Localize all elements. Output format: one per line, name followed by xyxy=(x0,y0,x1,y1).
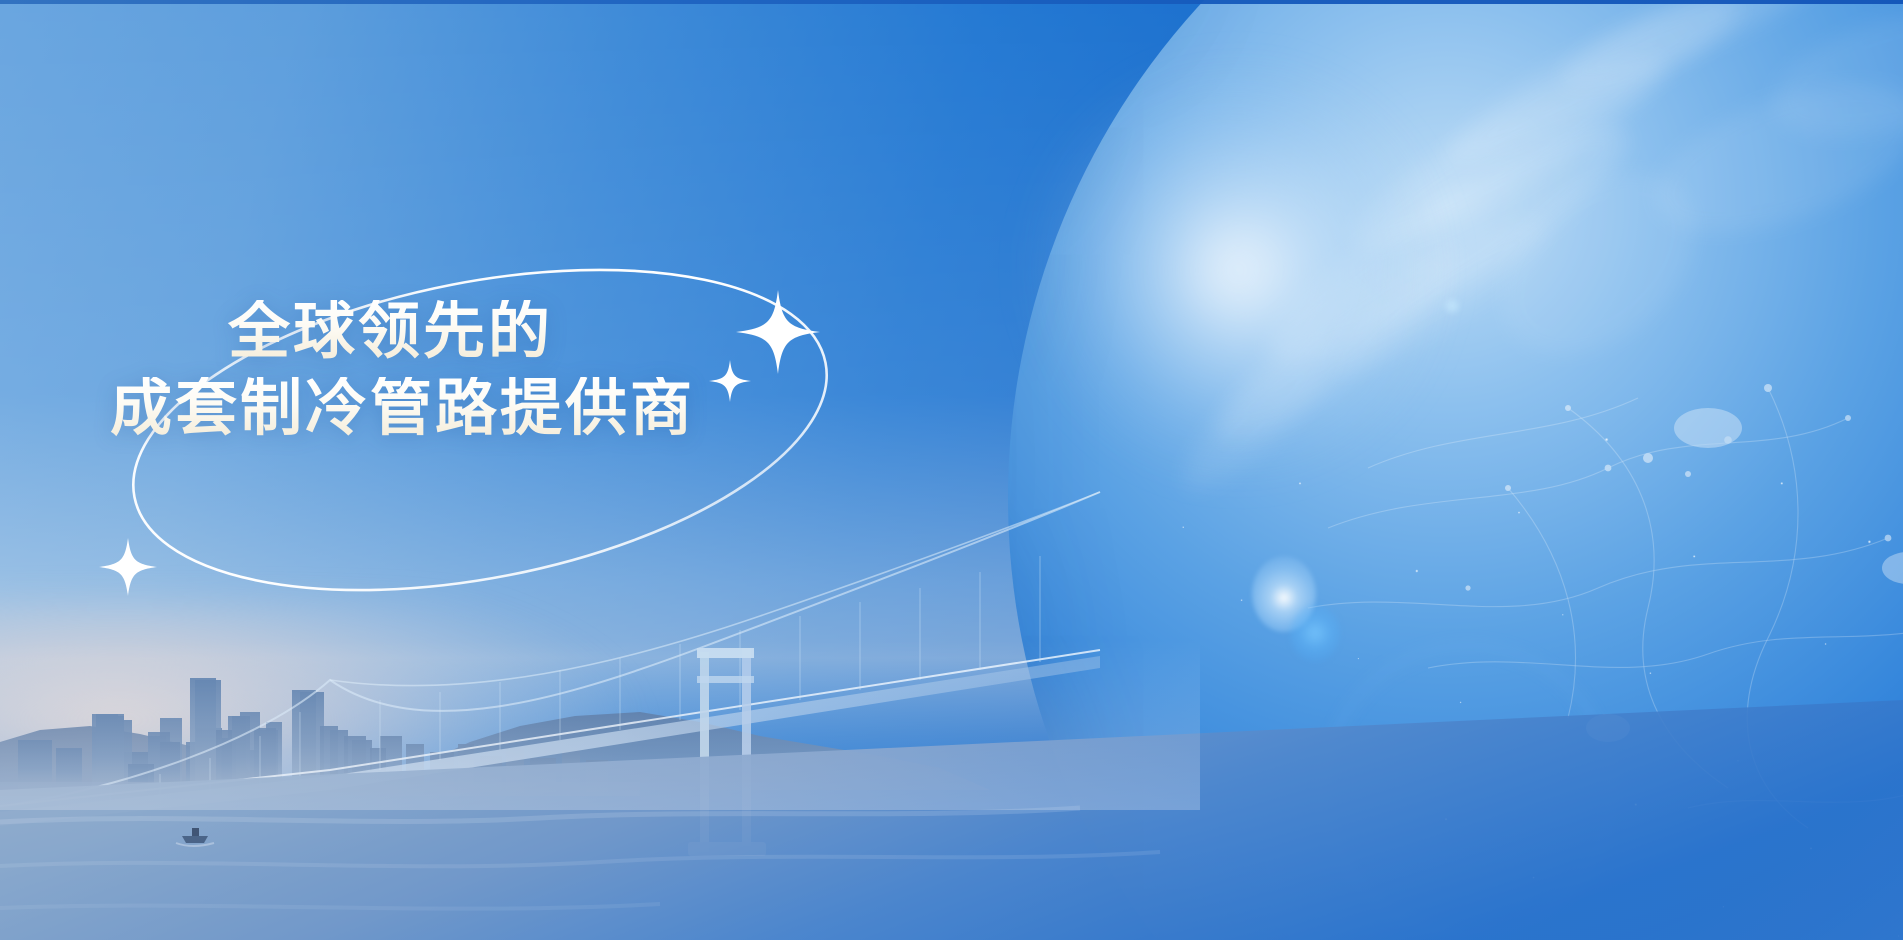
sparkle-group xyxy=(60,250,900,610)
sparkle-star-left xyxy=(99,538,157,596)
sparkle-star-small xyxy=(709,360,751,402)
hero-banner: 全球领先的 成套制冷管路提供商 xyxy=(0,0,1903,940)
sparkle-star-large xyxy=(736,290,820,374)
sun-bloom xyxy=(1028,60,1448,480)
top-edge-strip xyxy=(0,0,1903,4)
